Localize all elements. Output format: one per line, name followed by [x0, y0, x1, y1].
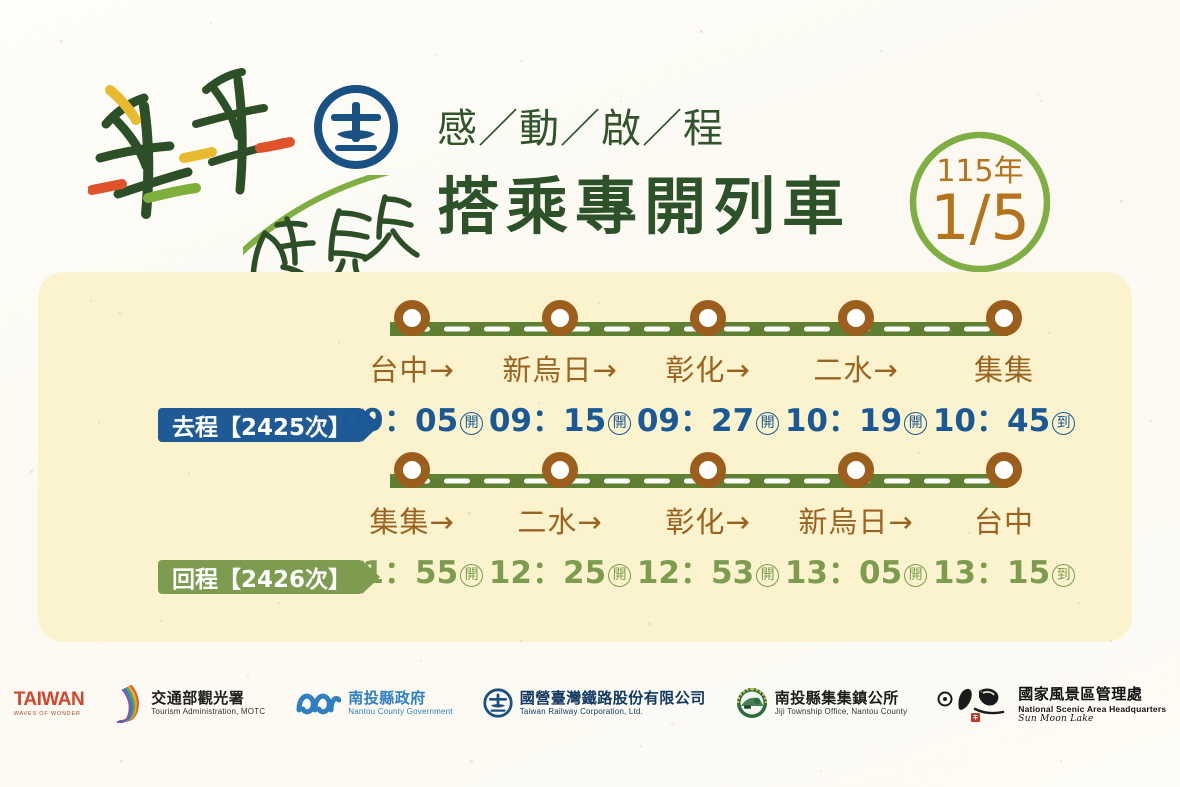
station-dot-icon: [394, 300, 430, 336]
station-time: 13：05開: [782, 547, 930, 592]
station-name: 台中: [930, 499, 1078, 541]
station-name: 集集: [930, 347, 1078, 389]
logo-nantou-county-government: 南投縣政府 Nantou County Government: [295, 688, 452, 718]
time-value: 09：15: [489, 403, 606, 439]
paper-fleck: [90, 300, 92, 302]
time-mark: 開: [460, 564, 483, 587]
time-value: 11：55: [341, 555, 458, 591]
station-name: 二水→: [782, 347, 930, 389]
sun-moon-lake-mark-icon: [937, 683, 1011, 723]
logo-label-cn: 交通部觀光署: [151, 690, 265, 707]
station-stop: 台中 13：15到: [930, 452, 1078, 592]
panel-speck: [1048, 332, 1050, 334]
station-time: 09：27開: [634, 395, 782, 440]
paper-fleck: [250, 140, 252, 142]
station-dot-icon: [986, 452, 1022, 488]
station-list-outbound: 台中→ 09：05開 新烏日→ 09：15開 彰化→ 09：27開 二水→ 10…: [338, 300, 1078, 440]
logo-sun-moon-lake-nsa: 國家風景區管理處 National Scenic Area Headquarte…: [937, 683, 1166, 724]
paper-fleck: [210, 22, 212, 24]
paper-fleck: [1150, 420, 1152, 422]
station-stop: 二水→ 10：19開: [782, 300, 930, 440]
panel-speck: [858, 362, 861, 365]
logo-taiwan: TAIWAN WAVES OF WONDER: [14, 690, 85, 717]
station-time: 09：05開: [338, 395, 486, 440]
sun-moon-lake-wordmark: Sun Moon Lake: [1018, 714, 1166, 724]
time-value: 12：25: [489, 555, 606, 591]
station-stop: 新烏日→ 09：15開: [486, 300, 634, 440]
logo-label-cn: 南投縣政府: [348, 690, 452, 707]
paper-fleck: [700, 30, 703, 33]
logo-label-en: Tourism Administration, MOTC: [151, 707, 265, 717]
time-mark: 開: [608, 412, 631, 435]
station-time: 12：25開: [486, 547, 634, 592]
taiwan-railway-emblem-icon: [483, 688, 513, 718]
paper-fleck: [980, 690, 983, 693]
station-time: 09：15開: [486, 395, 634, 440]
station-dot-icon: [690, 452, 726, 488]
station-stop: 集集→ 11：55開: [338, 452, 486, 592]
schedule-panel: 去程【2425次】: [38, 272, 1132, 642]
time-mark: 開: [608, 564, 631, 587]
taiwan-wordmark: TAIWAN: [14, 690, 85, 709]
paper-fleck: [1060, 760, 1062, 762]
station-time: 11：55開: [338, 547, 486, 592]
time-mark: 開: [904, 564, 927, 587]
paper-fleck: [420, 660, 422, 662]
logo-label-en: National Scenic Area Headquarters: [1018, 704, 1166, 714]
poster-tagline: 感／動／啟／程: [437, 96, 724, 154]
time-value: 12：53: [637, 555, 754, 591]
station-list-inbound: 集集→ 11：55開 二水→ 12：25開 彰化→ 12：53開 新烏日→ 13…: [338, 452, 1078, 592]
panel-speck: [648, 622, 651, 625]
paper-fleck: [1120, 200, 1123, 203]
station-dot-icon: [690, 300, 726, 336]
paper-fleck: [640, 745, 642, 747]
logo-label-cn: 南投縣集集鎮公所: [775, 690, 908, 707]
logo-label-en: Taiwan Railway Corporation, Ltd.: [520, 707, 706, 717]
taiwan-railway-emblem-icon: [313, 84, 399, 170]
station-dot-icon: [838, 452, 874, 488]
paper-fleck: [520, 640, 522, 642]
paper-fleck: [120, 760, 123, 763]
paper-fleck: [620, 100, 622, 102]
taiwan-tagline: WAVES OF WONDER: [14, 711, 85, 717]
panel-speck: [468, 512, 471, 515]
station-stop: 二水→ 12：25開: [486, 452, 634, 592]
time-value: 09：05: [341, 403, 458, 439]
paper-fleck: [760, 180, 763, 183]
panel-speck: [968, 532, 970, 534]
panel-speck: [188, 472, 190, 474]
paper-fleck: [300, 700, 302, 702]
paper-fleck: [950, 330, 952, 332]
panel-speck: [538, 402, 540, 404]
poster-main-title: 搭乘專開列車: [437, 156, 851, 246]
paper-fleck: [1110, 640, 1112, 642]
logo-taiwan-railway-corporation: 國營臺灣鐵路股份有限公司 Taiwan Railway Corporation,…: [483, 688, 706, 718]
paper-fleck: [60, 40, 63, 43]
jiji-township-seal-icon: [736, 687, 768, 719]
time-mark: 開: [756, 412, 779, 435]
panel-speck: [738, 572, 740, 574]
paper-fleck: [160, 620, 162, 622]
poster-header: 感／動／啟／程 搭乘專開列車 115年 1/5: [0, 0, 1180, 270]
station-time: 12：53開: [634, 547, 782, 592]
logo-label-en: Jiji Township Office, Nantou County: [775, 707, 908, 717]
station-dot-icon: [542, 300, 578, 336]
station-name: 集集→: [338, 499, 486, 541]
time-value: 13：15: [933, 555, 1050, 591]
paper-fleck: [470, 760, 473, 763]
paper-fleck: [520, 60, 522, 62]
taiwan-island-icon: [114, 683, 144, 723]
logo-jiji-township-office: 南投縣集集鎮公所 Jiji Township Office, Nantou Co…: [736, 687, 908, 719]
panel-speck: [598, 302, 600, 304]
station-name: 彰化→: [634, 347, 782, 389]
logo-tourism-administration: 交通部觀光署 Tourism Administration, MOTC: [114, 683, 265, 723]
paper-fleck: [880, 50, 882, 52]
paper-fleck: [30, 470, 33, 473]
panel-speck: [1078, 602, 1080, 604]
time-value: 10：45: [933, 403, 1050, 439]
station-time: 10：19開: [782, 395, 930, 440]
date-day: 1/5: [930, 189, 1030, 248]
station-stop: 彰化→ 09：27開: [634, 300, 782, 440]
panel-speck: [98, 422, 100, 424]
station-stop: 台中→ 09：05開: [338, 300, 486, 440]
time-value: 09：27: [637, 403, 754, 439]
time-mark: 開: [460, 412, 483, 435]
panel-speck: [278, 602, 280, 604]
time-mark: 開: [904, 412, 927, 435]
station-name: 新烏日→: [782, 499, 930, 541]
time-mark: 到: [1052, 564, 1075, 587]
station-dot-icon: [542, 452, 578, 488]
poster-root: 感／動／啟／程 搭乘專開列車 115年 1/5 去程【2425次】: [0, 0, 1180, 787]
panel-speck: [118, 312, 121, 315]
time-value: 10：19: [785, 403, 902, 439]
nantou-county-icon: [295, 688, 341, 718]
paper-fleck: [1040, 100, 1042, 102]
paper-fleck: [340, 260, 342, 262]
station-time: 13：15到: [930, 547, 1078, 592]
date-badge: 115年 1/5: [905, 127, 1055, 277]
time-value: 13：05: [785, 555, 902, 591]
station-name: 二水→: [486, 499, 634, 541]
station-stop: 彰化→ 12：53開: [634, 452, 782, 592]
panel-speck: [338, 342, 340, 344]
paper-fleck: [820, 770, 822, 772]
logo-label-cn: 國營臺灣鐵路股份有限公司: [520, 690, 706, 707]
sponsor-logo-bar: TAIWAN WAVES OF WONDER 交通部觀光署 Tourism Ad…: [0, 668, 1180, 738]
panel-speck: [918, 452, 920, 454]
station-stop: 集集 10：45到: [930, 300, 1078, 440]
station-stop: 新烏日→ 13：05開: [782, 452, 930, 592]
logo-label-en: Nantou County Government: [348, 707, 452, 717]
time-mark: 開: [756, 564, 779, 587]
route-label-outbound[interactable]: 去程【2425次】: [158, 408, 363, 442]
station-dot-icon: [838, 300, 874, 336]
station-dot-icon: [394, 452, 430, 488]
station-name: 台中→: [338, 347, 486, 389]
route-label-inbound[interactable]: 回程【2426次】: [158, 560, 363, 594]
time-mark: 到: [1052, 412, 1075, 435]
logo-label-cn: 國家風景區管理處: [1018, 683, 1166, 704]
station-name: 彰化→: [634, 499, 782, 541]
station-dot-icon: [986, 300, 1022, 336]
station-name: 新烏日→: [486, 347, 634, 389]
station-time: 10：45到: [930, 395, 1078, 440]
